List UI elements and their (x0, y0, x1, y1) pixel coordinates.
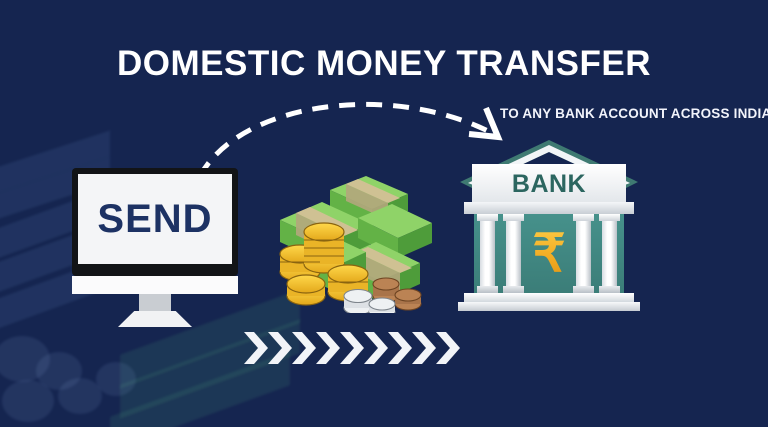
bank-column-capital (503, 214, 524, 221)
page-title: DOMESTIC MONEY TRANSFER (0, 46, 768, 81)
chevron-arrows-right-icon (244, 330, 464, 366)
poster-canvas: DOMESTIC MONEY TRANSFER TO ANY BANK ACCO… (0, 0, 768, 427)
bank-column (602, 216, 617, 292)
desktop-monitor-icon: SEND (72, 168, 238, 302)
cash-and-coins-icon (262, 168, 442, 313)
bank-step-upper (464, 293, 634, 302)
monitor-screen: SEND (78, 174, 232, 264)
bank-column-capital (573, 214, 594, 221)
bank-column-base (477, 286, 498, 293)
bank-building-icon: BANK ₹ (458, 138, 640, 310)
bank-column-capital (599, 214, 620, 221)
bank-column (506, 216, 521, 292)
bank-column-capital (477, 214, 498, 221)
bank-column-base (599, 286, 620, 293)
monitor-stand-neck (139, 294, 171, 313)
bank-step-lower (458, 302, 640, 311)
bank-label: BANK (472, 166, 626, 202)
monitor-stand-foot (118, 311, 192, 327)
monitor-chin (72, 276, 238, 294)
bank-architrave (464, 202, 634, 214)
send-label: SEND (97, 199, 212, 239)
bank-column-base (573, 286, 594, 293)
bank-column-base (503, 286, 524, 293)
bank-column (480, 216, 495, 292)
bank-column (576, 216, 591, 292)
